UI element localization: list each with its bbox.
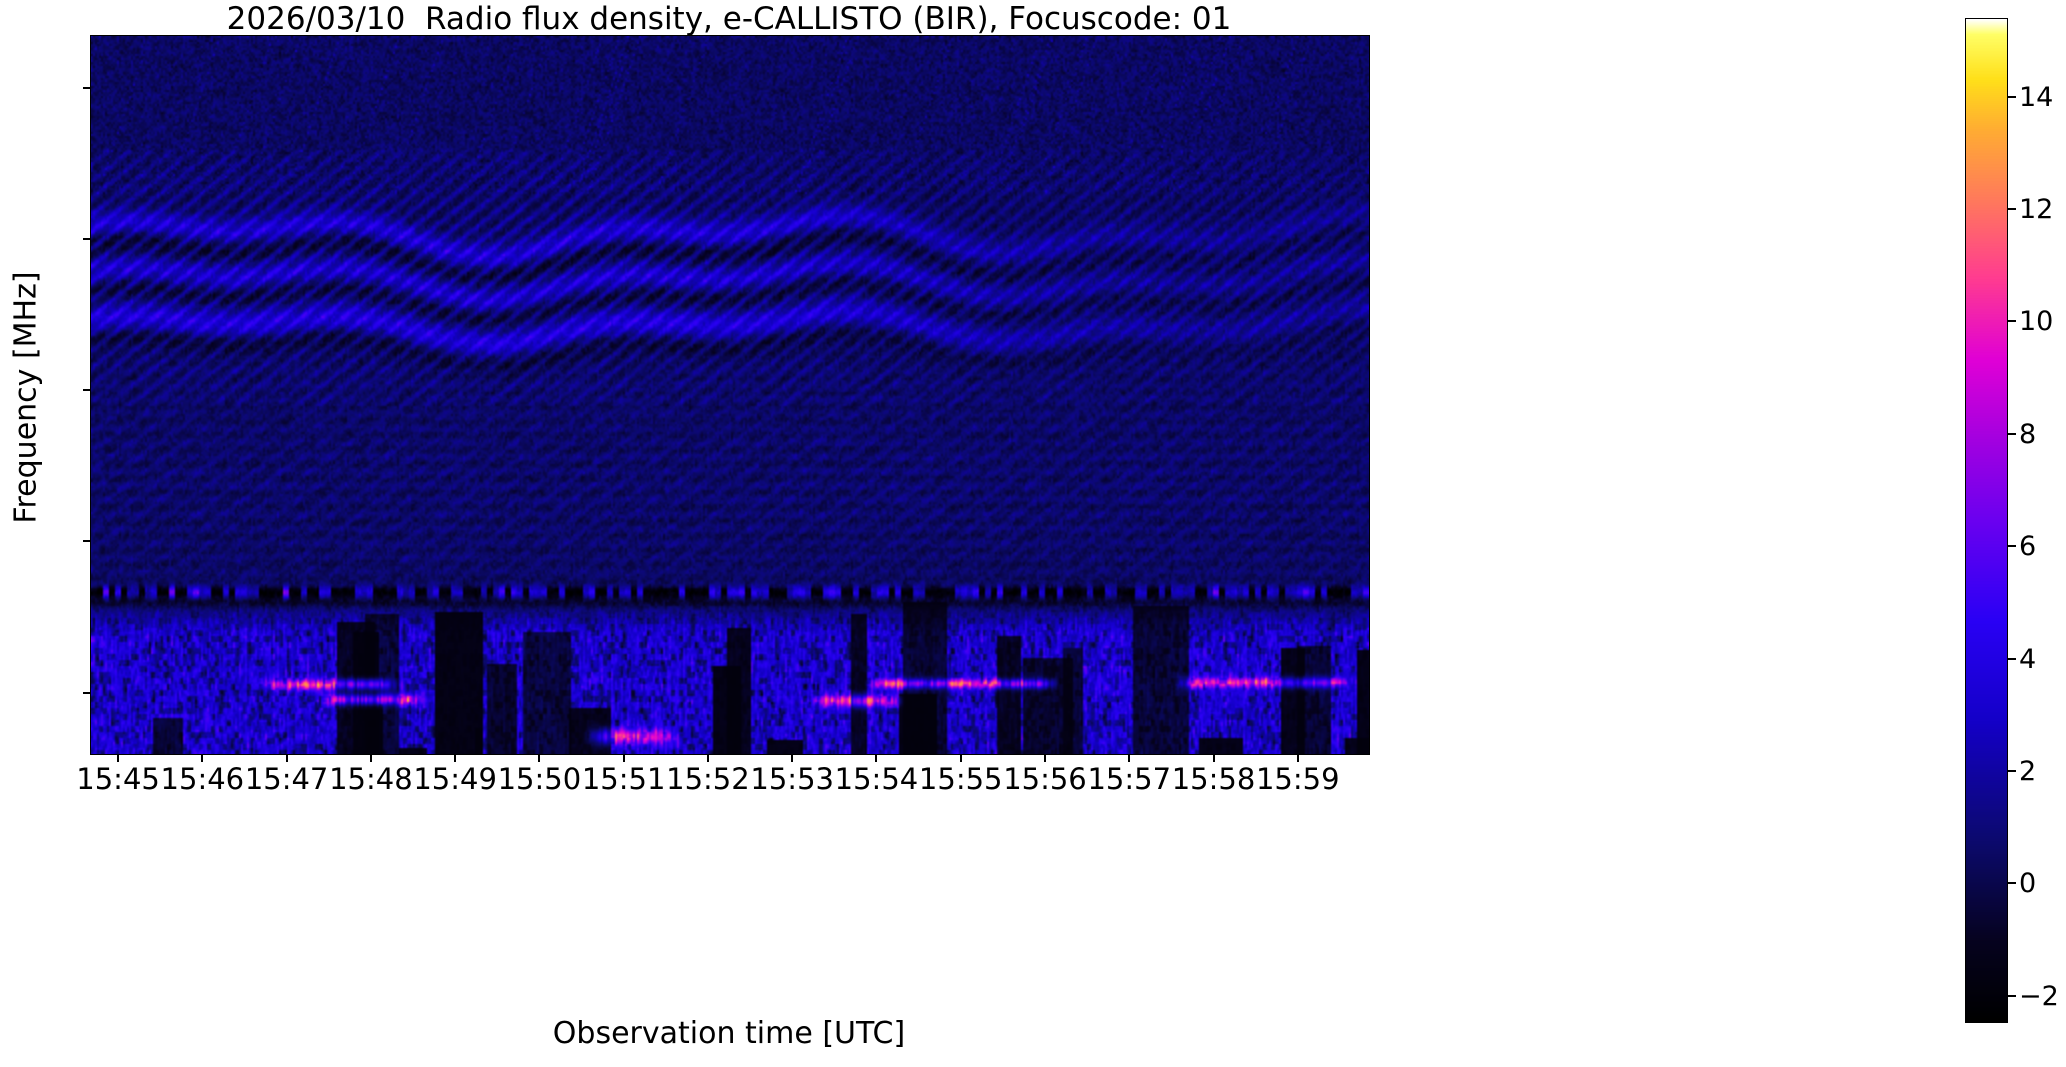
spectrogram-image <box>91 36 1369 754</box>
colorbar-tick-mark <box>2008 320 2016 322</box>
colorbar-tick-mark <box>2008 658 2016 660</box>
colorbar-tick-label: 8 <box>2019 419 2066 450</box>
colorbar-tick-label: 0 <box>2019 868 2066 899</box>
page-title: 2026/03/10 Radio flux density, e-CALLIST… <box>90 2 1368 36</box>
x-tick-mark <box>1128 754 1130 762</box>
colorbar-tick-label: 12 <box>2019 194 2066 225</box>
colorbar-tick-label: 4 <box>2019 644 2066 675</box>
x-tick-mark <box>286 754 288 762</box>
x-tick-mark <box>960 754 962 762</box>
x-axis-label: Observation time [UTC] <box>90 1016 1368 1051</box>
x-tick-mark <box>707 754 709 762</box>
y-tick-mark <box>83 238 90 240</box>
x-tick-mark <box>791 754 793 762</box>
y-tick-mark <box>83 389 90 391</box>
y-tick-mark <box>83 87 90 89</box>
y-tick-mark <box>83 540 90 542</box>
colorbar-tick-mark <box>2008 995 2016 997</box>
colorbar-tick-label: 6 <box>2019 531 2066 562</box>
spectrogram-figure: 2026/03/10 Radio flux density, e-CALLIST… <box>0 0 2066 1067</box>
colorbar-tick-mark <box>2008 770 2016 772</box>
x-tick-mark <box>117 754 119 762</box>
x-tick-mark <box>875 754 877 762</box>
x-tick-mark <box>370 754 372 762</box>
colorbar-tick-label: 10 <box>2019 306 2066 337</box>
colorbar-tick-mark <box>2008 208 2016 210</box>
colorbar-tick-mark <box>2008 96 2016 98</box>
colorbar-tick-mark <box>2008 433 2016 435</box>
x-tick-mark <box>623 754 625 762</box>
x-tick-mark <box>201 754 203 762</box>
x-tick-label: 15:59 <box>1208 762 1388 796</box>
x-tick-mark <box>1297 754 1299 762</box>
colorbar-tick-label: 14 <box>2019 82 2066 113</box>
y-axis-label: Frequency [MHz] <box>9 98 44 698</box>
colorbar-tick-mark <box>2008 882 2016 884</box>
spectrogram-plot-area <box>90 35 1370 755</box>
colorbar-tick-label: −2 <box>2019 981 2066 1012</box>
y-tick-mark <box>83 692 90 694</box>
colorbar <box>1965 18 2008 1023</box>
colorbar-gradient <box>1966 19 2007 1022</box>
x-tick-mark <box>1044 754 1046 762</box>
x-tick-mark <box>538 754 540 762</box>
x-tick-mark <box>454 754 456 762</box>
x-tick-mark <box>1213 754 1215 762</box>
colorbar-tick-mark <box>2008 545 2016 547</box>
colorbar-tick-label: 2 <box>2019 756 2066 787</box>
